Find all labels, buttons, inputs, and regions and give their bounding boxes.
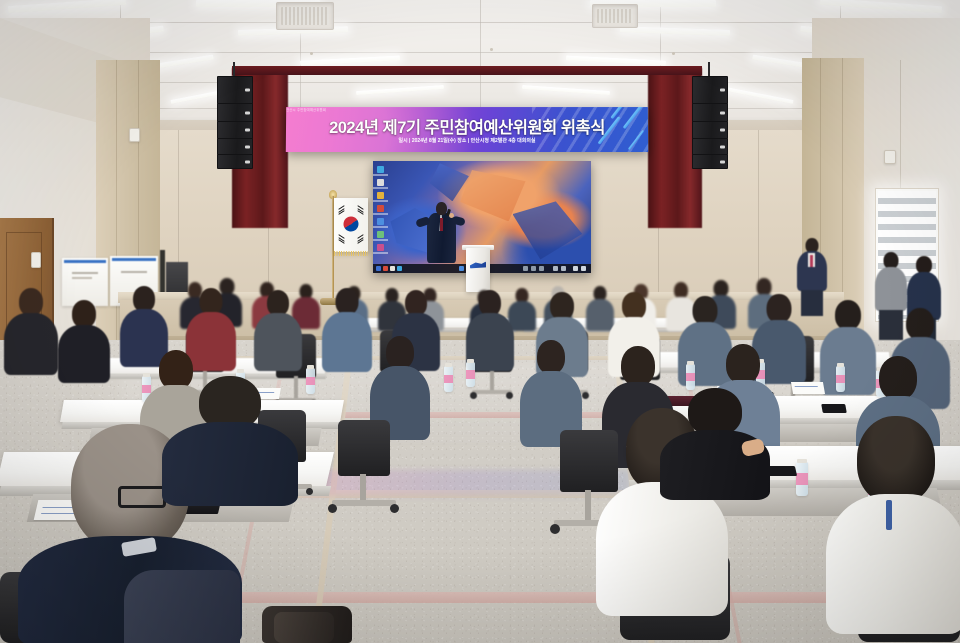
- ceiling-led-strip: [566, 55, 666, 65]
- seated-attendee: [322, 288, 372, 370]
- office-chair[interactable]: [338, 420, 390, 476]
- podium: [466, 248, 490, 292]
- wall-thermostat[interactable]: [129, 128, 140, 142]
- board-text: [72, 277, 92, 279]
- event-banner: 안산시 주민참여예산위원회 2024년 제7기 주민참여예산위원회 위촉식 일시…: [286, 107, 648, 152]
- attendee-head: [621, 346, 655, 386]
- water-bottle[interactable]: [836, 366, 845, 392]
- staff-torso: [875, 267, 907, 311]
- attendee-head: [550, 292, 574, 320]
- attendee-torso: [826, 494, 960, 634]
- speaker-cabinet: [692, 154, 728, 169]
- ceiling-led-strip: [300, 55, 400, 65]
- mobile-phone[interactable]: [821, 404, 847, 413]
- attendee-torso: [322, 312, 372, 372]
- board-header-bar: [64, 260, 106, 263]
- line-array-speaker-left: [217, 62, 251, 166]
- chair-caster: [550, 524, 560, 534]
- desktop-icon[interactable]: [377, 218, 384, 225]
- attendee-lanyard: [886, 500, 892, 530]
- attendee-head: [622, 292, 646, 320]
- presenter-head: [436, 202, 447, 215]
- water-bottle[interactable]: [686, 364, 695, 390]
- speaker-cabinet: [217, 121, 253, 139]
- attendee-head: [537, 340, 565, 374]
- ceiling-ac-diffuser: [276, 2, 334, 30]
- attendee-head: [767, 294, 792, 323]
- attendee-torso: [4, 313, 58, 375]
- chair-post: [585, 490, 591, 524]
- staff-lanyard: [810, 255, 813, 267]
- desktop-icon[interactable]: [377, 244, 384, 251]
- wall-speaker: [884, 150, 896, 164]
- desktop-icon-label: [373, 213, 388, 215]
- attendee-head: [19, 288, 43, 316]
- seated-attendee: [254, 290, 302, 370]
- ceiling-led-strip: [820, 0, 942, 13]
- attendee-torso: [162, 422, 298, 506]
- desktop-icon-label: [373, 187, 388, 189]
- desktop-icon[interactable]: [377, 231, 384, 238]
- desktop-icon[interactable]: [377, 179, 384, 186]
- presenter-tie: [440, 218, 443, 231]
- banner-subtitle: 일시 | 2024년 8월 21일(수) 장소 | 안산시청 제2별관 4층 대…: [286, 137, 648, 144]
- seated-attendee: [162, 376, 298, 504]
- attendee-head: [386, 336, 414, 369]
- desktop-icon-label: [373, 252, 388, 254]
- speaker-cabinet: [692, 138, 728, 155]
- chair-base: [332, 500, 396, 506]
- podium-emblem: [470, 261, 486, 269]
- desktop-icon[interactable]: [377, 205, 384, 212]
- attendee-head: [879, 356, 917, 400]
- board-header-bar: [112, 258, 156, 261]
- board-text: [121, 271, 147, 273]
- speaker-cabinet: [692, 103, 728, 122]
- speaker-cabinet: [217, 103, 253, 122]
- curtain-valance: [232, 66, 702, 75]
- chair-caster: [328, 504, 337, 513]
- attendee-torso: [58, 325, 110, 383]
- attendee-head: [835, 300, 861, 330]
- chair-caster: [470, 392, 477, 399]
- ceiling-sprinkler: [490, 48, 493, 51]
- board-text: [72, 272, 98, 274]
- water-bottle[interactable]: [466, 362, 475, 387]
- bag: [274, 612, 334, 643]
- chair-post: [490, 370, 494, 392]
- ceiling-led-strip: [8, 0, 126, 13]
- chair-caster: [306, 488, 313, 495]
- attendee-head: [906, 308, 934, 340]
- ceiling-sprinkler: [310, 52, 313, 55]
- wall-switch-panel[interactable]: [31, 252, 41, 268]
- seated-attendee: [520, 340, 582, 444]
- document-handout[interactable]: [791, 382, 825, 394]
- water-bottle[interactable]: [796, 462, 808, 496]
- line-array-speaker-right: [692, 62, 726, 166]
- chair-caster: [582, 392, 589, 399]
- speaker-cabinet: [217, 154, 253, 169]
- presenter-hand: [449, 213, 454, 218]
- attendee-head: [726, 344, 760, 384]
- attendee-head: [200, 288, 223, 315]
- speaker-cabinet: [692, 76, 728, 104]
- chair-caster: [506, 392, 513, 399]
- desktop-icon-label: [373, 200, 388, 202]
- attendee-head: [72, 300, 96, 328]
- south-korean-flag: [334, 198, 368, 252]
- speaker-cabinet: [692, 121, 728, 139]
- ceiling-sprinkler: [672, 52, 675, 55]
- attendee-head: [857, 416, 935, 504]
- speaker-cabinet: [217, 138, 253, 155]
- attendee-leg: [124, 570, 240, 643]
- seated-attendee: [4, 288, 58, 374]
- desktop-icon-label: [373, 239, 388, 241]
- conference-hall-photograph: 안산시 주민참여예산위원회 2024년 제7기 주민참여예산위원회 위촉식 일시…: [0, 0, 960, 643]
- attendee-torso: [596, 482, 728, 616]
- flip-chart-board: [62, 258, 108, 306]
- ceiling-led-strip: [356, 85, 444, 95]
- ceiling-led-strip: [522, 85, 610, 95]
- seated-attendee: [58, 300, 110, 382]
- banner-decor-text: 안산시 주민참여예산위원회: [286, 107, 648, 112]
- water-bottle[interactable]: [306, 368, 315, 394]
- attendee-torso: [254, 313, 302, 371]
- attendee-head: [693, 296, 718, 325]
- desktop-icon[interactable]: [377, 166, 384, 173]
- attendee-head: [688, 388, 742, 436]
- seated-attendee: [466, 290, 514, 370]
- speaker-cabinet: [217, 76, 253, 104]
- desktop-icon-label: [373, 226, 388, 228]
- chair-caster: [390, 504, 399, 513]
- banner-title: 2024년 제7기 주민참여예산위원회 위촉식: [286, 114, 648, 138]
- desktop-icon[interactable]: [377, 192, 384, 199]
- eyeglasses: [118, 486, 166, 508]
- attendee-head: [336, 288, 359, 315]
- water-bottle[interactable]: [444, 366, 453, 392]
- flag-fringe: [334, 251, 368, 256]
- ceiling-ac-diffuser: [592, 4, 638, 28]
- seated-attendee: [826, 416, 960, 630]
- desktop-icon-label: [373, 174, 388, 176]
- taeguk-symbol: [341, 214, 362, 235]
